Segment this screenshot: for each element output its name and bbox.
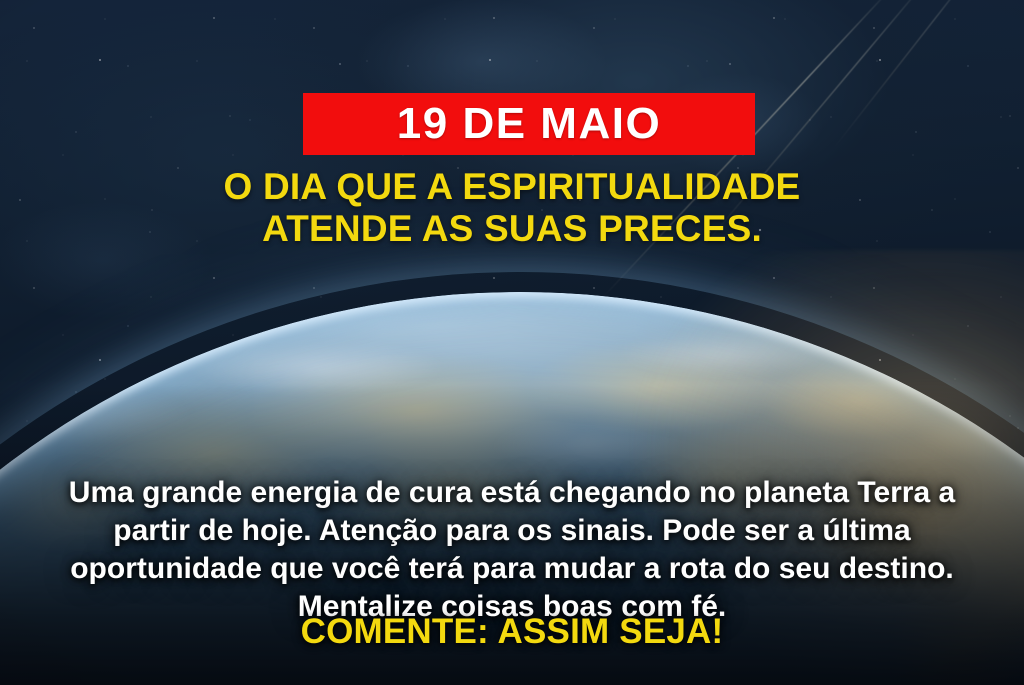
page-title: O DIA QUE A ESPIRITUALIDADE ATENDE AS SU… — [0, 166, 1024, 250]
headline-line-1: O DIA QUE A ESPIRITUALIDADE — [40, 166, 984, 208]
call-to-action-text: COMENTE: ASSIM SEJA! — [0, 612, 1024, 652]
poster-content: 19 DE MAIO O DIA QUE A ESPIRITUALIDADE A… — [0, 0, 1024, 685]
date-banner: 19 DE MAIO — [303, 93, 755, 155]
body-paragraph: Uma grande energia de cura está chegando… — [0, 474, 1024, 626]
headline-line-2: ATENDE AS SUAS PRECES. — [40, 208, 984, 250]
poster-canvas: 19 DE MAIO O DIA QUE A ESPIRITUALIDADE A… — [0, 0, 1024, 685]
date-banner-label: 19 DE MAIO — [397, 102, 661, 146]
